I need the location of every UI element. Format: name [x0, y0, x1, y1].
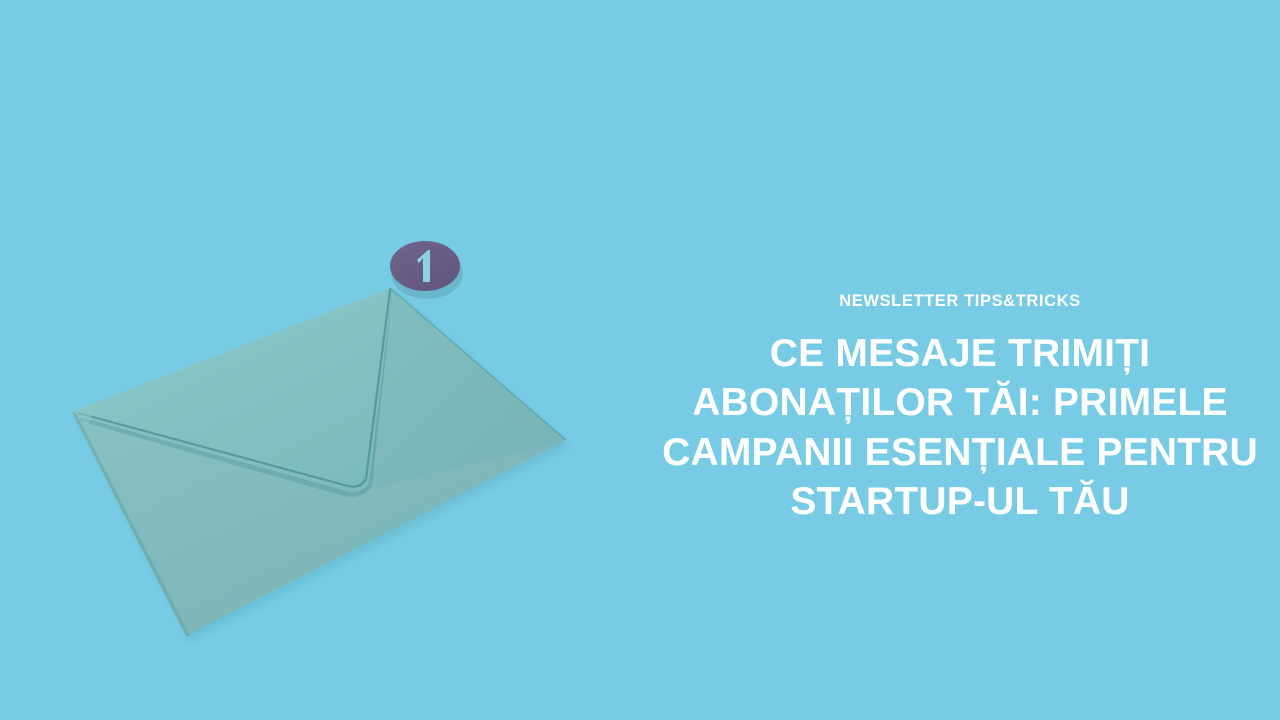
text-block: NEWSLETTER TIPS&TRICKS CE MESAJE TRIMIȚI…	[640, 292, 1280, 527]
headline-line-2: ABONAȚILOR TĂI: PRIMELE	[640, 378, 1280, 428]
envelope-illustration	[0, 180, 620, 720]
headline-line-4: STARTUP-UL TĂU	[640, 477, 1280, 527]
seal-sticker	[390, 241, 463, 299]
slide-canvas: NEWSLETTER TIPS&TRICKS CE MESAJE TRIMIȚI…	[0, 0, 1280, 720]
kicker-label: NEWSLETTER TIPS&TRICKS	[640, 292, 1280, 312]
page-title: CE MESAJE TRIMIȚI ABONAȚILOR TĂI: PRIMEL…	[640, 329, 1280, 527]
headline-line-1: CE MESAJE TRIMIȚI	[640, 329, 1280, 379]
headline-line-3: CAMPANII ESENȚIALE PENTRU	[640, 428, 1280, 478]
envelope-photo	[0, 180, 620, 720]
